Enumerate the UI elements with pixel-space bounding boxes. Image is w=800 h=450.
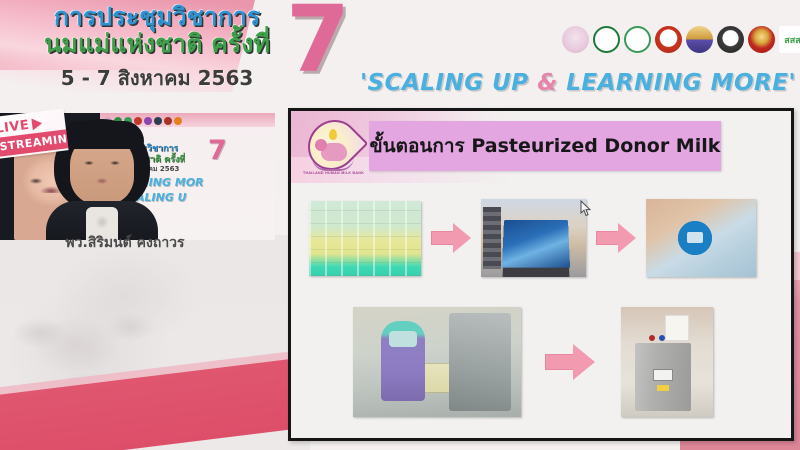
- milk-bank-logo-caption: THAILAND HUMAN MILK BANK: [303, 171, 363, 175]
- conference-title-line2: นมแม่แห่งชาติ ครั้งที่: [22, 31, 292, 57]
- conference-title-line1: การประชุมวิชาการ: [22, 4, 292, 30]
- slide-title-text: ขั้นตอนการ Pasteurized Donor Milk: [370, 131, 721, 161]
- photo-detail-indicator: [657, 385, 669, 391]
- slide-broadcast-screen: การประชุมวิชาการ นมแม่แห่งชาติ ครั้งที่ …: [0, 0, 800, 450]
- conference-slogan: 'SCALING UP & LEARNING MORE': [360, 70, 790, 96]
- photo-detail-hood: [449, 313, 511, 411]
- arrow-right-icon: [545, 344, 597, 380]
- photo-detail-display-panel: [653, 369, 673, 381]
- speaker-name-caption: พว.สิริมนต์ คงถาวร: [0, 232, 250, 254]
- video-poster-edition-number: 7: [208, 137, 227, 164]
- photo-pasteurizer-machine: [621, 307, 713, 417]
- conference-date: 5 - 7 สิงหาคม 2563: [22, 62, 292, 94]
- photo-nurse-loading-pasteurizer: [353, 307, 521, 417]
- photo-detail-knob-blue: [659, 335, 665, 341]
- thai-health-sss-logo: สสส: [779, 26, 800, 53]
- medical-association-logo: [748, 26, 775, 53]
- conference-edition-number: 7: [286, 0, 350, 86]
- mouse-pointer-icon: [580, 200, 592, 218]
- process-flow-row-2: [353, 303, 733, 421]
- photo-laptop-workstation: [481, 199, 586, 277]
- nursing-council-logo: [717, 26, 744, 53]
- conference-title-block: การประชุมวิชาการ นมแม่แห่งชาติ ครั้งที่ …: [22, 4, 292, 94]
- milk-droplet-icon: [329, 129, 337, 140]
- royal-patronage-logo: [562, 26, 589, 53]
- slide-title-banner: ขั้นตอนการ Pasteurized Donor Milk: [369, 121, 721, 171]
- slogan-prefix: 'SCALING UP: [360, 70, 537, 96]
- speaker-bangs: [60, 121, 144, 149]
- photo-handheld-thermometer: [646, 199, 756, 277]
- partner-logos-row: สสส: [562, 26, 800, 53]
- presentation-slide[interactable]: THAILAND HUMAN MILK BANK ขั้นตอนการ Past…: [288, 108, 794, 441]
- slogan-suffix: LEARNING MORE': [558, 70, 796, 96]
- royal-emblem-logo: [686, 26, 713, 53]
- cradling-hands-icon: [312, 157, 354, 171]
- arrow-right-icon: [596, 223, 636, 253]
- ministry-of-public-health-logo: [624, 26, 651, 53]
- process-flow-row-1: [309, 199, 779, 277]
- human-milk-bank-logo: THAILAND HUMAN MILK BANK: [303, 119, 363, 181]
- arrow-right-icon: [431, 223, 471, 253]
- photo-detail-knob-red: [649, 335, 655, 341]
- thai-breastfeeding-foundation-logo: [593, 26, 620, 53]
- play-triangle-icon: [31, 117, 42, 130]
- slogan-ampersand: &: [537, 70, 558, 96]
- conference-header: การประชุมวิชาการ นมแม่แห่งชาติ ครั้งที่ …: [0, 0, 800, 108]
- photo-milk-bottles-rack: [309, 201, 421, 276]
- royal-college-logo: [655, 26, 682, 53]
